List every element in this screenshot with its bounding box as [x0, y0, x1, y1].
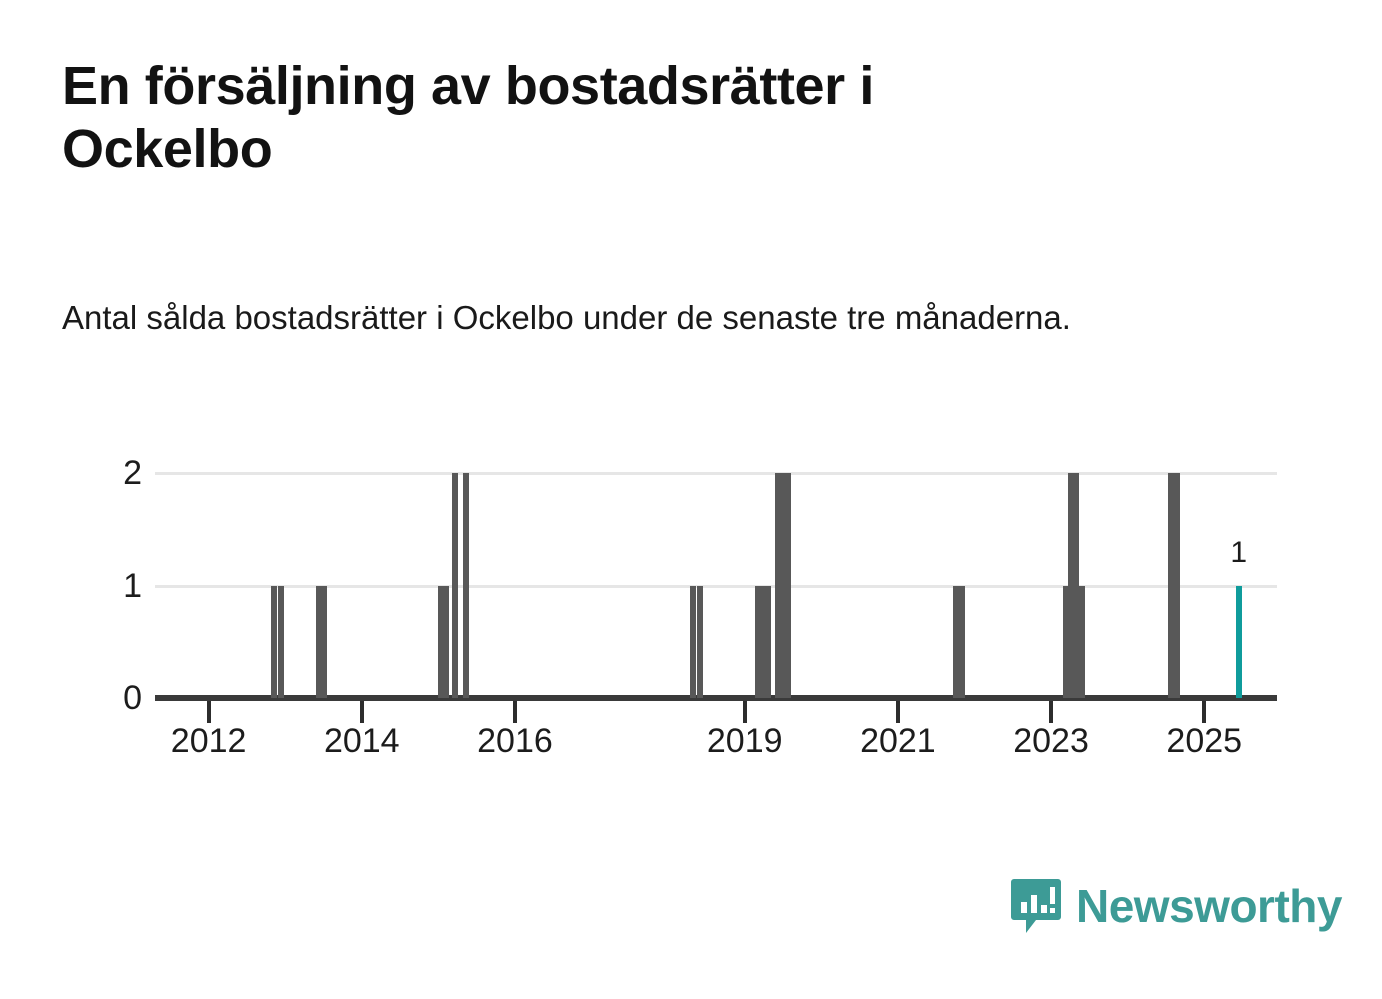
bar-highlighted[interactable]	[1236, 586, 1242, 699]
bar[interactable]	[278, 586, 284, 699]
x-tick	[743, 701, 747, 723]
x-tick-label: 2025	[1134, 724, 1274, 758]
x-tick-label: 2016	[445, 724, 585, 758]
bar[interactable]	[1079, 586, 1085, 699]
x-tick	[1049, 701, 1053, 723]
bar[interactable]	[1174, 473, 1180, 698]
bar[interactable]	[697, 586, 703, 699]
bar[interactable]	[1073, 473, 1079, 698]
x-tick	[207, 701, 211, 723]
bar[interactable]	[953, 586, 959, 699]
bar-chart-speech-bubble-icon	[1010, 877, 1062, 935]
y-tick-label: 2	[96, 456, 142, 490]
bar[interactable]	[452, 473, 458, 698]
bar[interactable]	[959, 586, 965, 699]
bar[interactable]	[1168, 473, 1174, 698]
y-tick-label: 0	[96, 681, 142, 715]
newsworthy-logo[interactable]: Newsworthy	[1010, 877, 1342, 935]
gridline	[155, 472, 1277, 475]
bar[interactable]	[785, 473, 791, 698]
y-tick-label: 1	[96, 569, 142, 603]
chart-page: En försäljning av bostadsrätter i Ockelb…	[0, 0, 1382, 999]
x-tick-label: 2014	[292, 724, 432, 758]
x-tick-label: 2023	[981, 724, 1121, 758]
bar[interactable]	[690, 586, 696, 699]
bar-value-label: 1	[1199, 538, 1279, 568]
x-tick	[360, 701, 364, 723]
x-tick-label: 2019	[675, 724, 815, 758]
bar-chart: 012 2012201420162019202120232025 1	[0, 0, 1382, 999]
x-tick-label: 2012	[139, 724, 279, 758]
bar[interactable]	[463, 473, 469, 698]
bar[interactable]	[443, 586, 449, 699]
x-tick-label: 2021	[828, 724, 968, 758]
logo-wordmark: Newsworthy	[1076, 883, 1342, 929]
x-tick	[896, 701, 900, 723]
bar[interactable]	[271, 586, 277, 699]
x-tick	[1202, 701, 1206, 723]
x-tick	[513, 701, 517, 723]
bar[interactable]	[321, 586, 327, 699]
bar[interactable]	[765, 586, 771, 699]
